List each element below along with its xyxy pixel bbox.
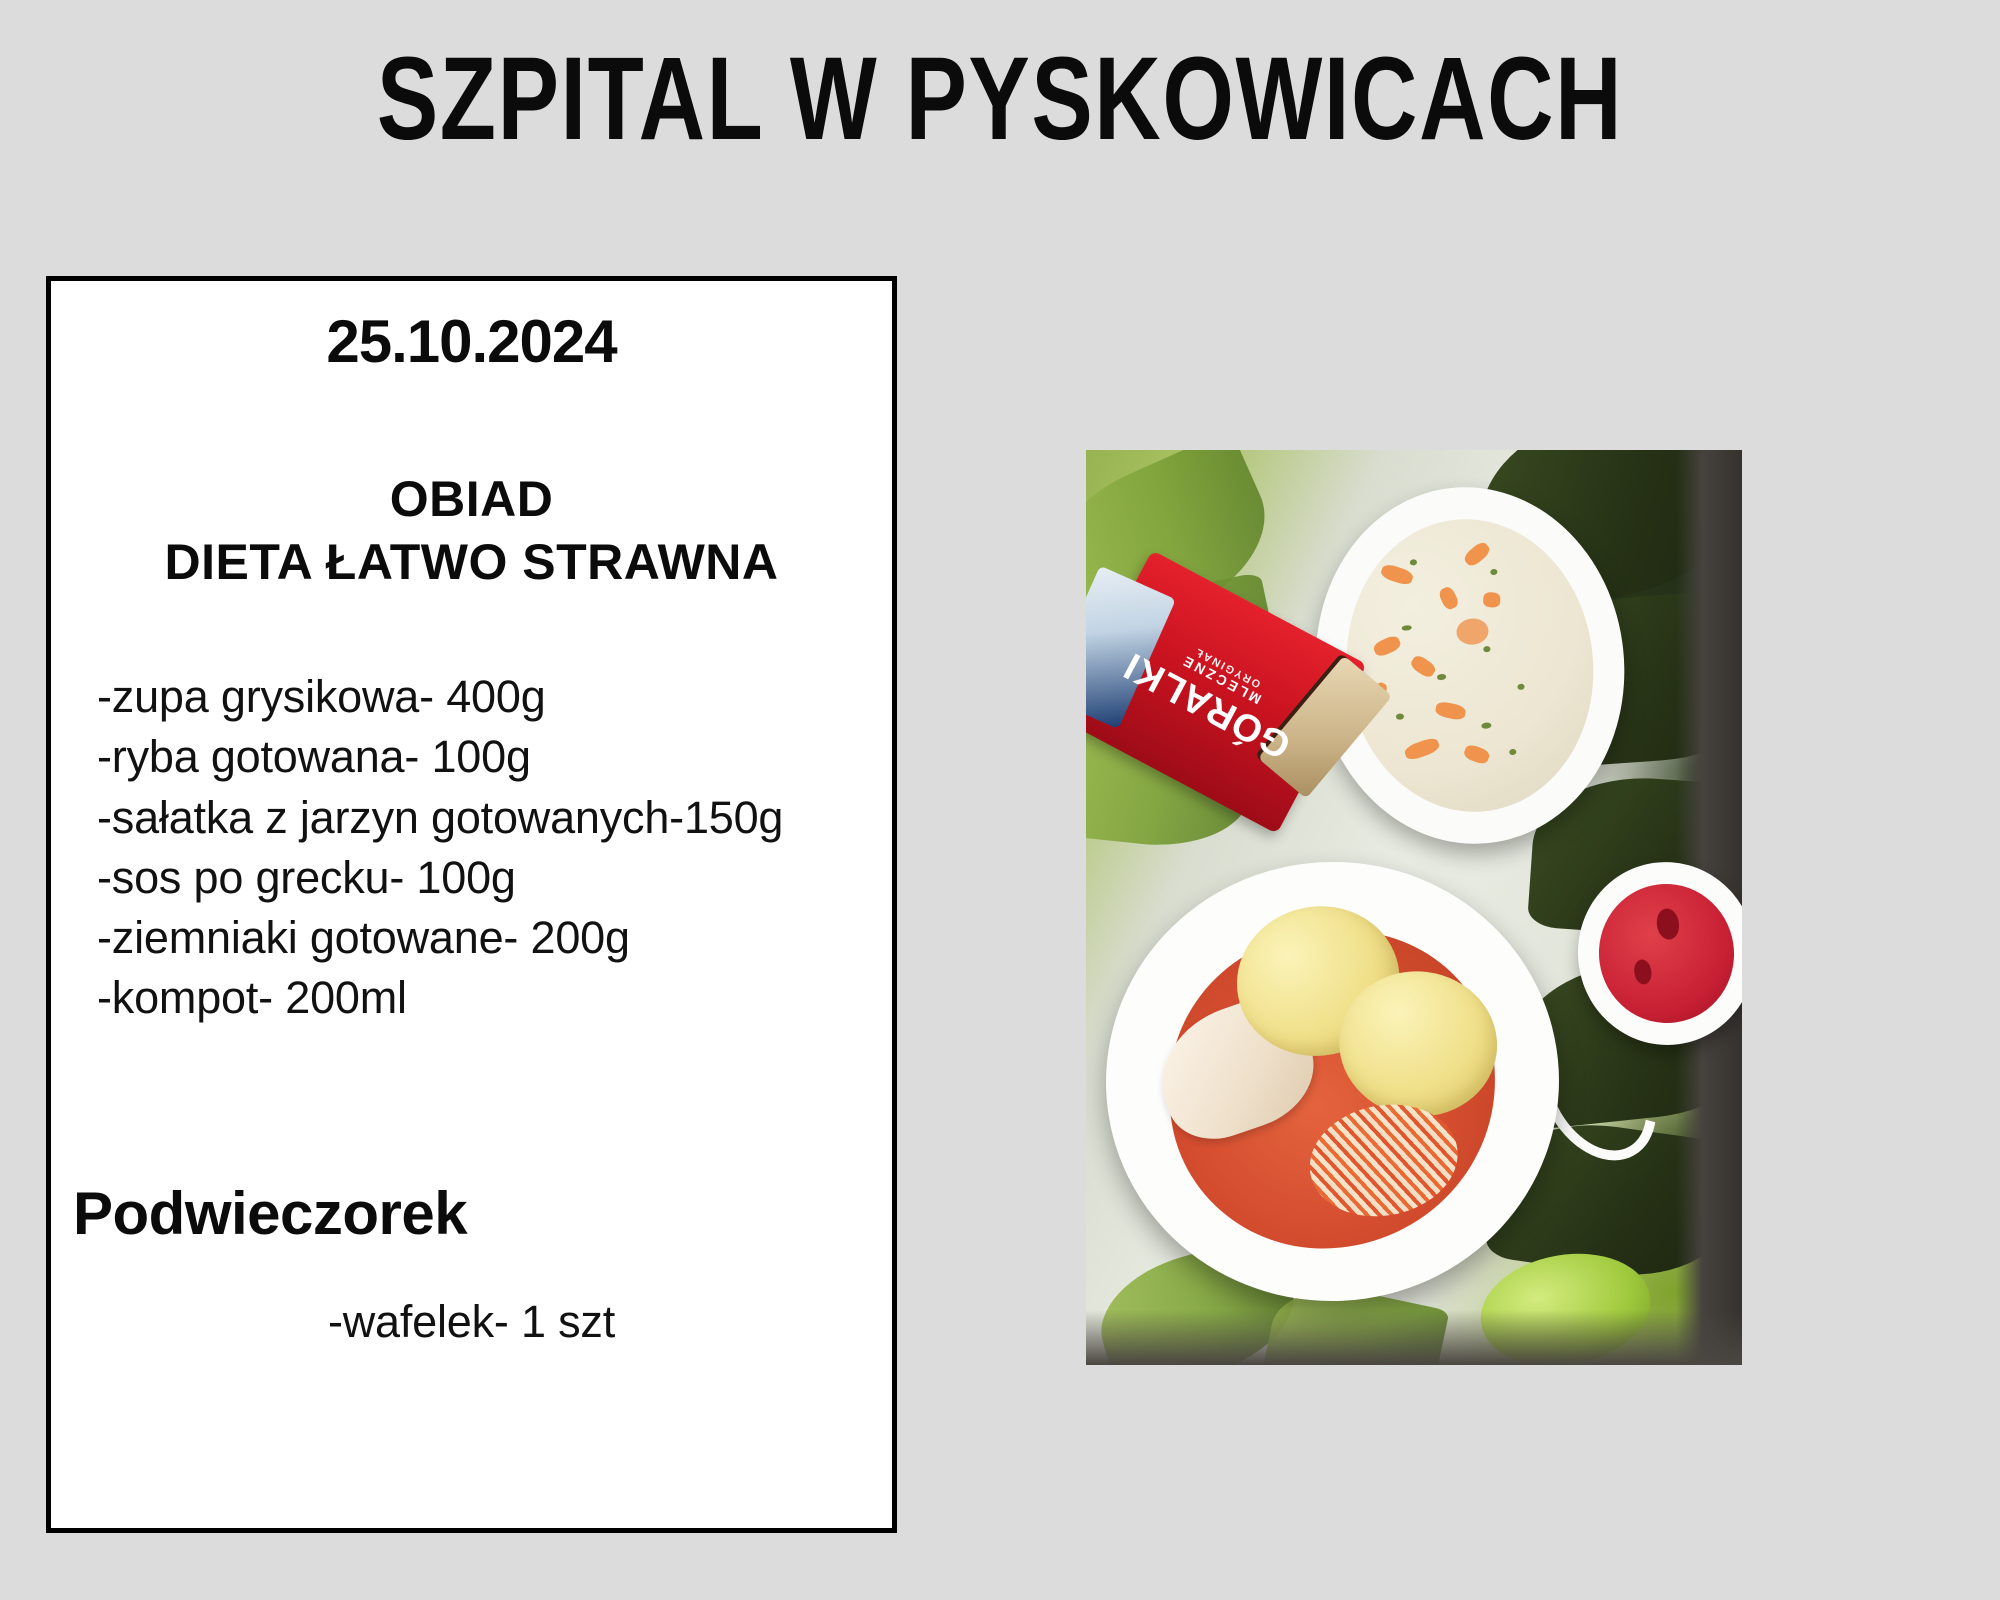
menu-headings: OBIAD DIETA ŁATWO STRAWNA xyxy=(51,468,892,593)
page-title: SZPITAL W PYSKOWICACH xyxy=(220,38,1780,162)
fruit-spot xyxy=(1655,907,1681,940)
table-shadow xyxy=(1086,1310,1742,1365)
herb-fleck xyxy=(1436,673,1446,680)
carrot-piece xyxy=(1462,540,1492,569)
herb-fleck xyxy=(1401,624,1411,631)
carrot-piece xyxy=(1438,585,1461,611)
carrot-piece xyxy=(1372,634,1403,658)
menu-date: 25.10.2024 xyxy=(51,307,892,376)
meal-photo: GÓRALKI MLECZNE ORYGINAŁ xyxy=(1086,450,1742,1365)
diet-heading: DIETA ŁATWO STRAWNA xyxy=(51,531,892,594)
herb-fleck xyxy=(1409,559,1417,566)
meal-heading: OBIAD xyxy=(51,468,892,531)
herb-fleck xyxy=(1483,645,1491,652)
snack-heading: Podwieczorek xyxy=(73,1179,892,1248)
carrot-piece xyxy=(1379,562,1414,586)
menu-card: 25.10.2024 OBIAD DIETA ŁATWO STRAWNA -zu… xyxy=(46,276,897,1533)
list-item: -kompot- 200ml xyxy=(97,968,892,1028)
meal-photo-scene: GÓRALKI MLECZNE ORYGINAŁ xyxy=(1086,450,1742,1365)
carrot-piece xyxy=(1408,653,1437,679)
carrot-piece xyxy=(1455,616,1490,646)
compot-liquid xyxy=(1590,875,1742,1031)
snack-item: -wafelek- 1 szt xyxy=(51,1296,892,1348)
list-item: -sos po grecku- 100g xyxy=(97,848,892,908)
herb-fleck xyxy=(1396,713,1404,720)
herb-fleck xyxy=(1489,568,1497,575)
list-item: -sałatka z jarzyn gotowanych-150g xyxy=(97,788,892,848)
soup-liquid xyxy=(1332,507,1608,824)
herb-fleck xyxy=(1516,683,1524,690)
herb-fleck xyxy=(1481,722,1491,729)
list-item: -ryba gotowana- 100g xyxy=(97,727,892,787)
carrot-piece xyxy=(1403,735,1440,761)
list-item: -zupa grysikowa- 400g xyxy=(97,667,892,727)
list-item: -ziemniaki gotowane- 200g xyxy=(97,908,892,968)
herb-fleck xyxy=(1508,748,1516,755)
carrot-piece xyxy=(1482,592,1500,608)
carrot-piece xyxy=(1434,700,1466,720)
menu-items-list: -zupa grysikowa- 400g -ryba gotowana- 10… xyxy=(97,667,892,1029)
fruit-spot xyxy=(1632,958,1653,985)
carrot-piece xyxy=(1463,743,1491,765)
